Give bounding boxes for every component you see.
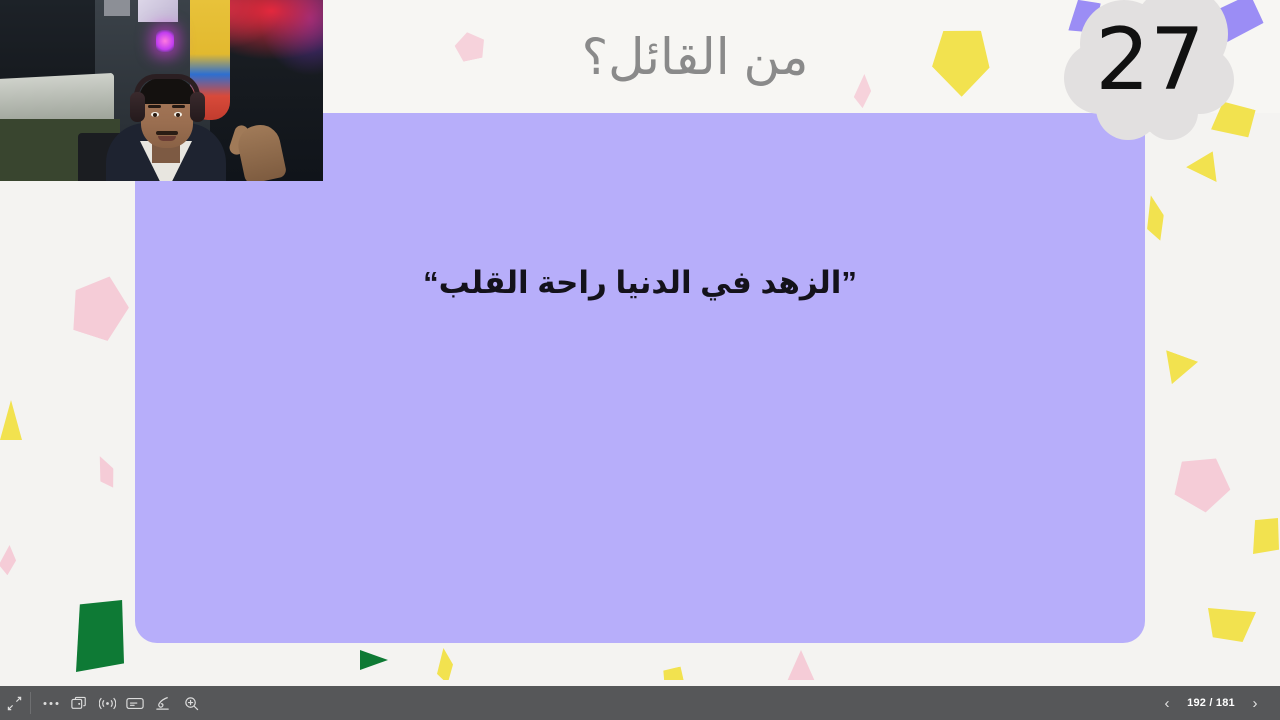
exit-fullscreen-icon[interactable] <box>0 686 28 720</box>
confetti-pink-shard-3 <box>0 544 19 577</box>
page-indicator: 192 / 181 <box>1182 697 1240 709</box>
webcam-person-pupil-right <box>176 113 180 117</box>
headphone-earcup-right <box>190 92 205 122</box>
confetti-yellow-shard-4 <box>1156 350 1198 390</box>
captions-icon[interactable] <box>121 686 149 720</box>
present-screen-icon[interactable] <box>65 686 93 720</box>
confetti-yellow-quad-2 <box>1253 518 1279 554</box>
confetti-pink-shard-2 <box>94 453 119 490</box>
toolbar-left-group <box>0 686 205 720</box>
pen-tool-icon[interactable] <box>149 686 177 720</box>
previous-slide-button[interactable]: ‹ <box>1154 686 1180 720</box>
question-number: 27 <box>1062 0 1242 150</box>
confetti-pink-hex-1 <box>1166 444 1240 517</box>
zoom-in-icon[interactable] <box>177 686 205 720</box>
headphones-icon <box>134 74 200 96</box>
webcam-poster <box>138 0 178 22</box>
toolbar-divider <box>30 692 31 714</box>
page-title: من القائل؟ <box>330 0 1060 113</box>
presentation-toolbar: ‹ 192 / 181 › <box>0 686 1280 720</box>
headphone-earcup-left <box>130 92 145 122</box>
webcam-person-pupil-left <box>153 113 157 117</box>
quote-text: ”الزهد في الدنيا راحة القلب“ <box>135 261 1145 304</box>
confetti-yellow-shard-1 <box>1144 194 1167 242</box>
webcam-poster-small <box>104 0 130 16</box>
answer-card: ”الزهد في الدنيا راحة القلب“ <box>135 113 1145 643</box>
webcam-overlay[interactable] <box>0 0 323 181</box>
presentation-stage: ”الزهد في الدنيا راحة القلب“ من القائل؟ … <box>0 0 1280 720</box>
question-number-badge: 27 <box>1062 0 1242 150</box>
next-slide-button[interactable]: › <box>1242 686 1268 720</box>
broadcast-icon[interactable] <box>93 686 121 720</box>
confetti-yellow-tri-3 <box>1208 608 1256 642</box>
webcam-person-brow-right <box>172 105 185 108</box>
webcam-person-brow-left <box>148 105 161 108</box>
webcam-person-mouth <box>158 136 176 141</box>
confetti-pink-pentagon-2 <box>64 268 136 344</box>
webcam-person-mustache <box>156 131 178 135</box>
confetti-green-quad-1 <box>76 600 124 672</box>
webcam-neon-light <box>156 30 174 52</box>
confetti-yellow-shard-2 <box>437 648 453 684</box>
more-options-icon[interactable] <box>37 686 65 720</box>
confetti-green-tri-1 <box>360 650 388 670</box>
slide-canvas[interactable]: ”الزهد في الدنيا راحة القلب“ من القائل؟ … <box>0 0 1280 686</box>
confetti-yellow-tri-2 <box>0 400 22 440</box>
toolbar-right-group: ‹ 192 / 181 › <box>1154 686 1280 720</box>
